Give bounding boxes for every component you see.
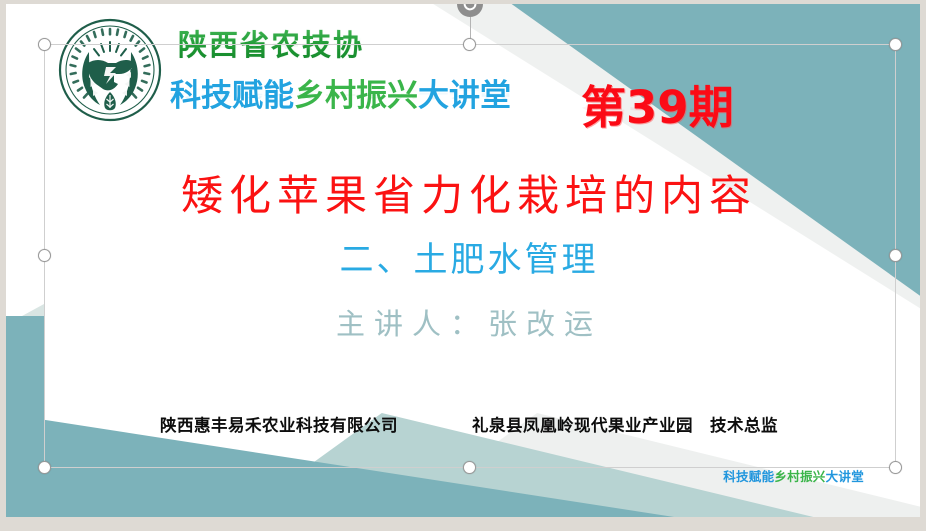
association-logo-icon (58, 18, 162, 122)
slide-editor-stage: 陕西省农技协 陕西省农技协 科技赋能乡村振兴大讲堂 科技赋能乡村振兴大讲堂 第3… (0, 0, 926, 531)
credit-position: 礼泉县凤凰岭现代果业产业园 技术总监 (472, 412, 778, 436)
series-reflection-part-1: 科技赋能 (170, 81, 294, 100)
watermark-part-2: 乡村振兴 (774, 469, 825, 484)
resize-handle-bottom-center[interactable] (463, 461, 476, 474)
slide-sub-title: 二、土肥水管理 (6, 232, 920, 281)
slide-main-title: 矮化苹果省力化栽培的内容 (6, 162, 920, 223)
resize-handle-bottom-right[interactable] (889, 461, 902, 474)
watermark-part-3: 大讲堂 (826, 469, 864, 484)
watermark-part-1: 科技赋能 (723, 469, 774, 484)
resize-handle-top-right[interactable] (889, 38, 902, 51)
slide-speaker: 主讲人：张改运 (6, 301, 920, 343)
resize-handle-top-left[interactable] (38, 38, 51, 51)
resize-handle-bottom-left[interactable] (38, 461, 51, 474)
slide-credits: 陕西惠丰易禾农业科技有限公司 礼泉县凤凰岭现代果业产业园 技术总监 (6, 412, 920, 436)
slide-watermark: 科技赋能乡村振兴大讲堂 (723, 466, 864, 485)
organization-name-reflection: 陕西省农技协 (178, 30, 364, 53)
series-title-reflection: 科技赋能乡村振兴大讲堂 (170, 81, 511, 104)
slide-header: 陕西省农技协 陕西省农技协 科技赋能乡村振兴大讲堂 科技赋能乡村振兴大讲堂 第3… (52, 12, 772, 130)
credit-company: 陕西惠丰易禾农业科技有限公司 (160, 412, 398, 436)
slide-canvas[interactable]: 陕西省农技协 陕西省农技协 科技赋能乡村振兴大讲堂 科技赋能乡村振兴大讲堂 第3… (6, 4, 920, 517)
series-reflection-part-2: 乡村振兴 (294, 81, 418, 100)
series-reflection-part-3: 大讲堂 (418, 81, 511, 100)
issue-number-reflection: 第39期 (581, 88, 734, 121)
